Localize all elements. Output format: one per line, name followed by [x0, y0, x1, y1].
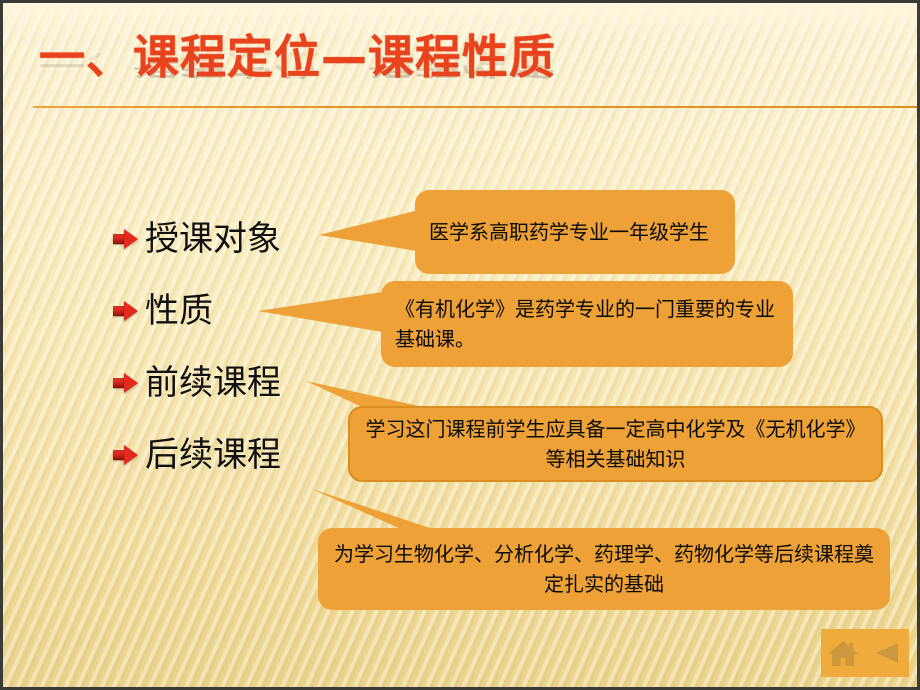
red-arrow-bullet-icon: [113, 301, 139, 321]
red-arrow-bullet-icon: [113, 229, 139, 249]
list-item[interactable]: 授课对象: [113, 203, 363, 275]
callout-followup: 为学习生物化学、分析化学、药理学、药物化学等后续课程奠定扎实的基础: [318, 528, 890, 610]
presentation-slide: 一、课程定位—课程性质 一、课程定位—课程性质 授课对象 性质 前续课程: [0, 0, 920, 690]
callout-nature-text: 《有机化学》是药学专业的一门重要的专业基础课。: [395, 294, 779, 354]
callout-nature: 《有机化学》是药学专业的一门重要的专业基础课。: [381, 281, 793, 367]
red-arrow-bullet-icon: [113, 373, 139, 393]
bullet-list: 授课对象 性质 前续课程 后续课程: [113, 203, 363, 491]
list-item[interactable]: 性质: [113, 275, 363, 347]
list-item[interactable]: 后续课程: [113, 419, 363, 491]
home-icon[interactable]: [825, 635, 861, 671]
callout-prerequisite-text: 学习这门课程前学生应具备一定高中化学及《无机化学》等相关基础知识: [364, 414, 867, 474]
slide-title-area: 一、课程定位—课程性质 一、课程定位—课程性质: [3, 29, 917, 107]
callout-prerequisite: 学习这门课程前学生应具备一定高中化学及《无机化学》等相关基础知识: [348, 406, 883, 482]
bullet-label-nature: 性质: [145, 291, 213, 331]
red-arrow-bullet-icon: [113, 445, 139, 465]
bullet-label-audience: 授课对象: [145, 219, 281, 259]
page-title: 一、课程定位—课程性质: [39, 29, 556, 85]
callout-followup-text: 为学习生物化学、分析化学、药理学、药物化学等后续课程奠定扎实的基础: [332, 539, 876, 599]
bullet-label-prerequisite: 前续课程: [145, 363, 281, 403]
title-divider-rule: [33, 106, 920, 108]
slide-navigation-panel: [821, 629, 909, 677]
list-item[interactable]: 前续课程: [113, 347, 363, 419]
bullet-label-followup: 后续课程: [145, 435, 281, 475]
back-triangle-icon[interactable]: [869, 635, 905, 671]
callout-audience: 医学系高职药学专业一年级学生: [415, 190, 735, 274]
callout-audience-text: 医学系高职药学专业一年级学生: [429, 217, 721, 247]
